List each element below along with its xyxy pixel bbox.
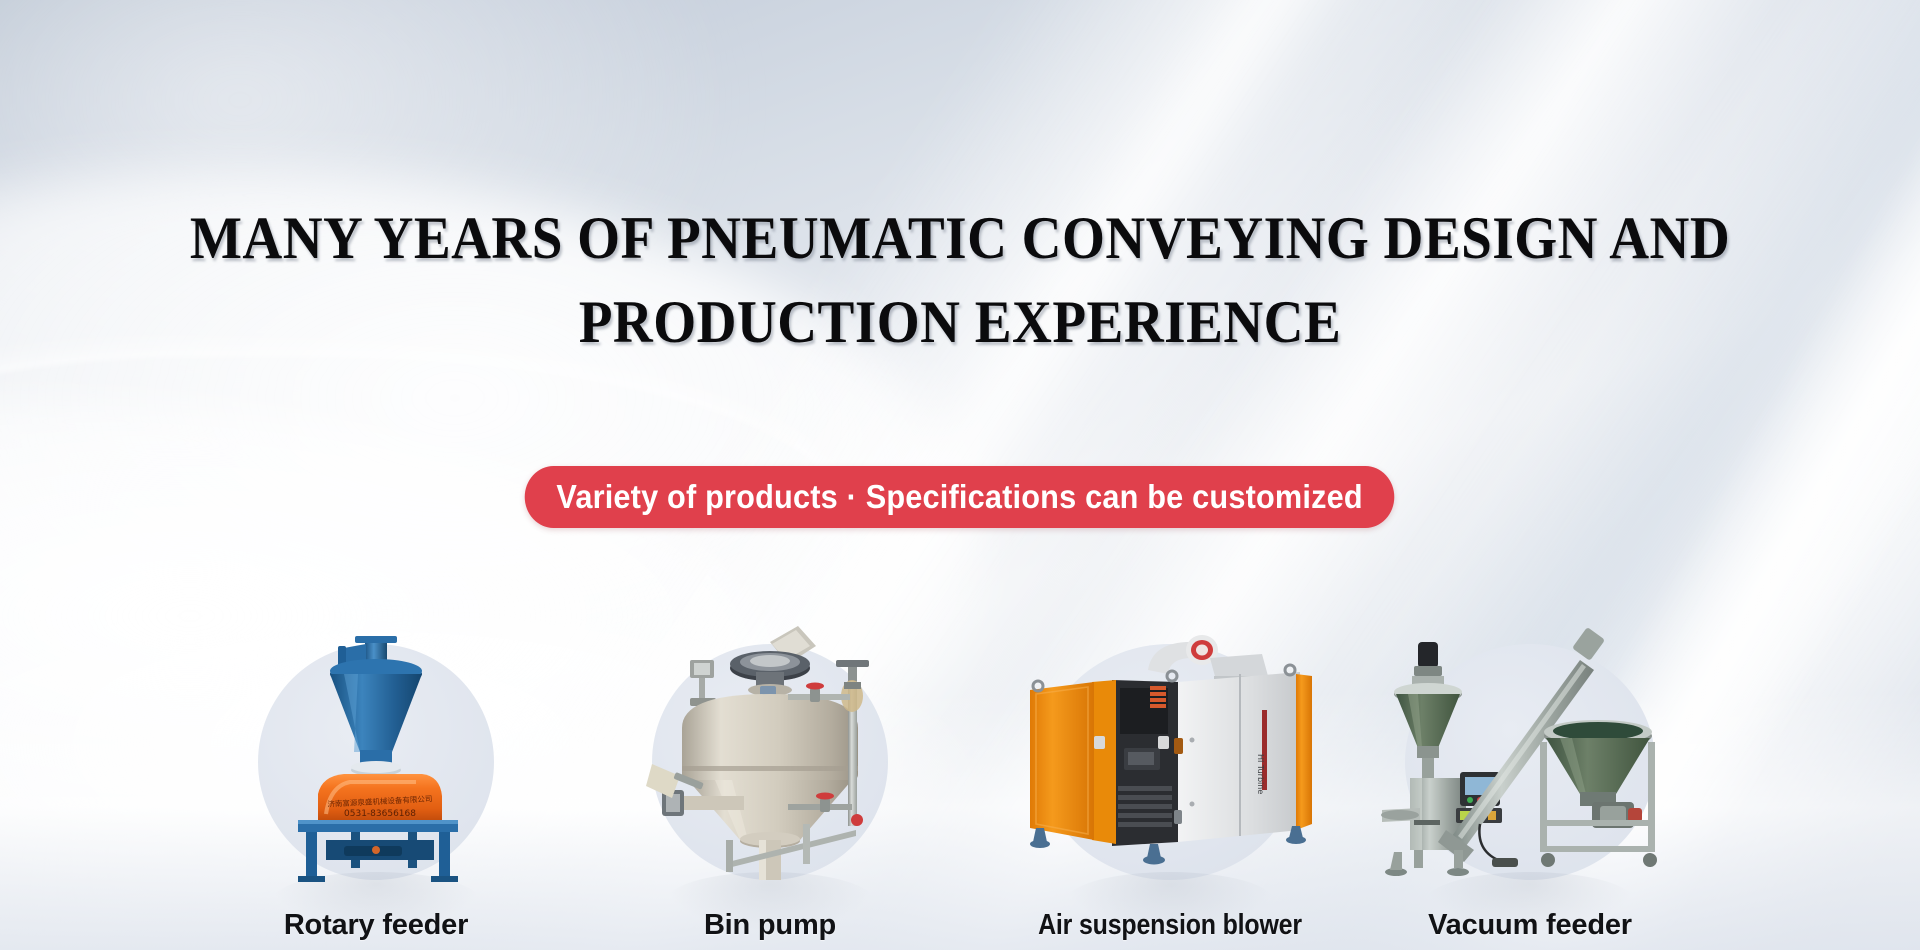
rotary-feeder-icon: 济南富源泉盛机械设备有限公司 0531-83656168 [226,624,526,884]
promo-banner: MANY YEARS OF PNEUMATIC CONVEYING DESIGN… [0,0,1920,950]
product-label: Rotary feeder [226,909,526,942]
badge-container: Variety of products · Specifications can… [0,466,1920,528]
product-item-bin-pump[interactable]: Bin pump [620,596,920,950]
headline-line-2: PRODUCTION EXPERIENCE [77,280,1843,364]
svg-text:HI Turbine: HI Turbine [1256,754,1265,794]
product-label: Vacuum feeder [1380,909,1680,942]
product-row: 济南富源泉盛机械设备有限公司 0531-83656168 [0,596,1920,950]
bin-pump-icon [620,624,920,884]
vacuum-feeder-icon [1380,624,1680,884]
banner-headline: MANY YEARS OF PNEUMATIC CONVEYING DESIGN… [77,196,1843,364]
headline-line-1: MANY YEARS OF PNEUMATIC CONVEYING DESIGN… [77,196,1843,280]
product-item-rotary-feeder[interactable]: 济南富源泉盛机械设备有限公司 0531-83656168 [226,596,526,950]
subtitle-badge: Variety of products · Specifications can… [525,466,1395,528]
air-suspension-blower-icon: HI Turbine [1000,624,1340,884]
product-item-air-suspension-blower[interactable]: HI Turbine [1000,596,1340,950]
product-item-vacuum-feeder[interactable]: Vacuum feeder [1380,596,1680,950]
product-label: Air suspension blower [1024,909,1316,942]
product-label: Bin pump [620,909,920,942]
svg-text:0531-83656168: 0531-83656168 [344,809,416,819]
